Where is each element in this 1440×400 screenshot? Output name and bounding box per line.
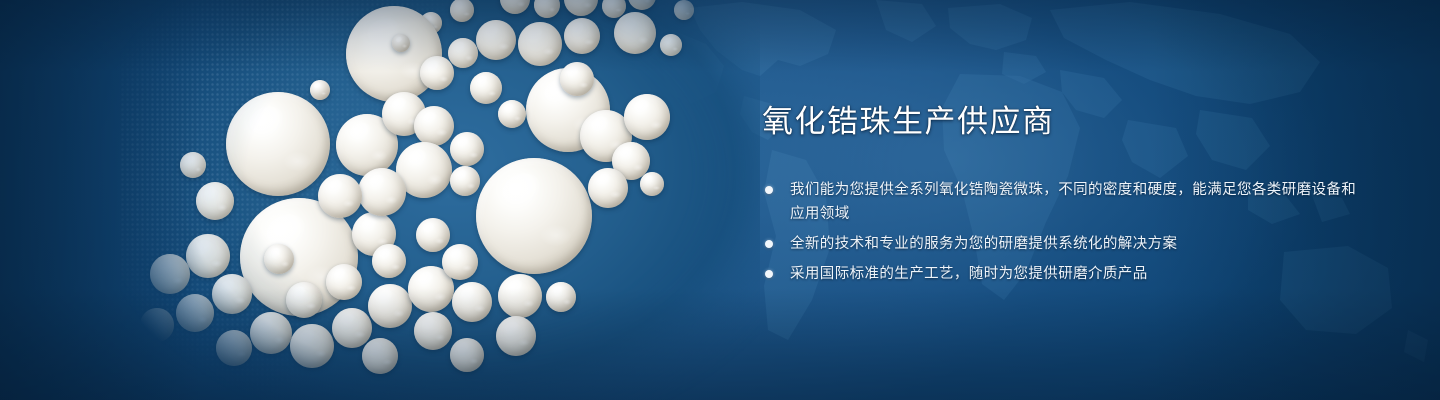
list-item-text: 采用国际标准的生产工艺，随时为您提供研磨介质产品 <box>790 266 1148 282</box>
bullet-dot-icon <box>765 270 773 278</box>
banner-text-block: 氧化锆珠生产供应商 我们能为您提供全系列氧化锆陶瓷微珠，不同的密度和硬度，能满足… <box>762 104 1362 292</box>
list-item-text: 我们能为您提供全系列氧化锆陶瓷微珠，不同的密度和硬度，能满足您各类研磨设备和应用… <box>790 182 1356 222</box>
banner-headline: 氧化锆珠生产供应商 <box>762 104 1362 140</box>
list-item: 采用国际标准的生产工艺，随时为您提供研磨介质产品 <box>762 262 1362 286</box>
list-item: 全新的技术和专业的服务为您的研磨提供系统化的解决方案 <box>762 232 1362 256</box>
list-item-text: 全新的技术和专业的服务为您的研磨提供系统化的解决方案 <box>790 236 1177 252</box>
banner-feature-list: 我们能为您提供全系列氧化锆陶瓷微珠，不同的密度和硬度，能满足您各类研磨设备和应用… <box>762 178 1362 286</box>
list-item: 我们能为您提供全系列氧化锆陶瓷微珠，不同的密度和硬度，能满足您各类研磨设备和应用… <box>762 178 1362 226</box>
hero-banner: 氧化锆珠生产供应商 我们能为您提供全系列氧化锆陶瓷微珠，不同的密度和硬度，能满足… <box>0 0 1440 400</box>
bullet-dot-icon <box>765 186 773 194</box>
bullet-dot-icon <box>765 240 773 248</box>
